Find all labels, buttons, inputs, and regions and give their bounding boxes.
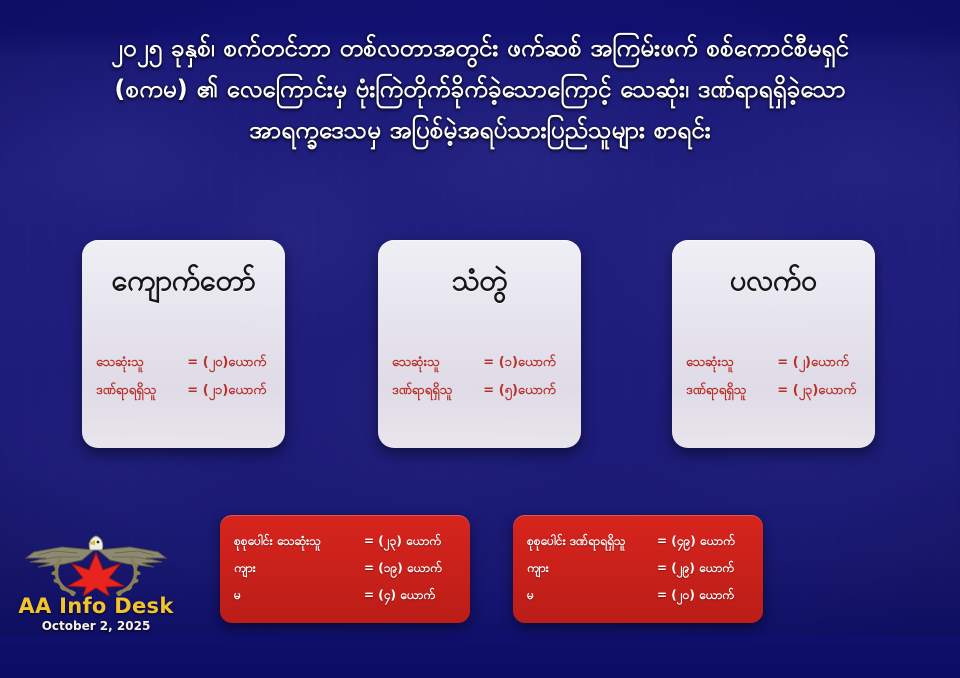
- stat-row-deaths: သေဆုံးသူ = (၂)ယောက်: [686, 349, 861, 377]
- eagle-head-icon: [88, 536, 103, 550]
- aa-info-desk-logo: AA Info Desk October 2, 2025: [16, 534, 176, 646]
- stat-label: သေဆုံးသူ: [96, 349, 187, 377]
- stat-label: သေဆုံးသူ: [686, 349, 777, 377]
- stat-value: = (၂)ယောက်: [777, 349, 861, 377]
- title-line-1: ၂၀၂၅ ခုနှစ်၊ စက်တင်ဘာ တစ်လတာအတွင်း ဖက်ဆစ…: [0, 28, 960, 69]
- infographic-poster: ၂၀၂၅ ခုနှစ်၊ စက်တင်ဘာ တစ်လတာအတွင်း ဖက်ဆစ…: [0, 0, 960, 678]
- poster-title: ၂၀၂၅ ခုနှစ်၊ စက်တင်ဘာ တစ်လတာအတွင်း ဖက်ဆစ…: [0, 28, 960, 151]
- summary-label: စုစုပေါင်း သေဆုံးသူ: [234, 528, 364, 555]
- stat-label: သေဆုံးသူ: [392, 349, 483, 377]
- logo-date: October 2, 2025: [16, 618, 176, 634]
- summary-value: = (၄၉) ယောက်: [657, 528, 735, 555]
- summary-label: စုစုပေါင်း ဒဏ်ရာရရှိသူ: [527, 528, 657, 555]
- logo-name: AA Info Desk: [16, 594, 176, 618]
- summary-label: မ: [527, 582, 657, 609]
- stat-row-injured: ဒဏ်ရာရရှိသူ = (၅)ယောက်: [392, 377, 567, 405]
- summary-value: = (၂၀) ယောက်: [657, 582, 734, 609]
- stat-value: = (၂၃)ယောက်: [777, 377, 861, 405]
- summary-row-total: စုစုပေါင်း သေဆုံးသူ = (၂၃) ယောက်: [234, 528, 456, 555]
- township-cards: ကျောက်တော် သေဆုံးသူ = (၂၀)ယောက် ဒဏ်ရာရရှ…: [0, 240, 960, 450]
- stat-value: = (၅)ယောက်: [483, 377, 567, 405]
- summary-row-male: ကျား = (၁၉) ယောက်: [234, 555, 456, 582]
- township-name: ပလက်ဝ: [730, 262, 817, 305]
- summary-value: = (၁၉) ယောက်: [364, 555, 442, 582]
- summary-value: = (၂၃) ယောက်: [364, 528, 441, 555]
- township-name: သံတွဲ: [452, 262, 508, 305]
- title-line-2: (စကမ) ၏ လေကြောင်းမှ ဗုံးကြဲတိုက်ခိုက်ခဲ့…: [0, 69, 960, 110]
- summary-row-male: ကျား = (၂၉) ယောက်: [527, 555, 749, 582]
- township-card-paletwa: ပလက်ဝ သေဆုံးသူ = (၂)ယောက် ဒဏ်ရာရရှိသူ = …: [672, 240, 875, 448]
- stat-label: ဒဏ်ရာရရှိသူ: [686, 377, 777, 405]
- eagle-star-wreath-icon: [16, 534, 176, 596]
- summary-box-injured: စုစုပေါင်း ဒဏ်ရာရရှိသူ = (၄၉) ယောက် ကျား…: [513, 515, 763, 623]
- logo-emblem: [16, 534, 176, 596]
- summary-label: ကျား: [234, 555, 364, 582]
- summary-value: = (၂၉) ယောက်: [657, 555, 734, 582]
- summary-row-total: စုစုပေါင်း ဒဏ်ရာရရှိသူ = (၄၉) ယောက်: [527, 528, 749, 555]
- township-stats: သေဆုံးသူ = (၂၀)ယောက် ဒဏ်ရာရရှိသူ = (၂၁)ယ…: [82, 349, 285, 405]
- township-stats: သေဆုံးသူ = (၁)ယောက် ဒဏ်ရာရရှိသူ = (၅)ယော…: [378, 349, 581, 405]
- township-card-thandwe: သံတွဲ သေဆုံးသူ = (၁)ယောက် ဒဏ်ရာရရှိသူ = …: [378, 240, 581, 448]
- summary-row-female: မ = (၂၀) ယောက်: [527, 582, 749, 609]
- stat-row-deaths: သေဆုံးသူ = (၁)ယောက်: [392, 349, 567, 377]
- stat-value: = (၂၀)ယောက်: [187, 349, 271, 377]
- stat-value: = (၁)ယောက်: [483, 349, 567, 377]
- summary-label: ကျား: [527, 555, 657, 582]
- stat-value: = (၂၁)ယောက်: [187, 377, 271, 405]
- township-card-kyauktaw: ကျောက်တော် သေဆုံးသူ = (၂၀)ယောက် ဒဏ်ရာရရှ…: [82, 240, 285, 448]
- stat-label: ဒဏ်ရာရရှိသူ: [96, 377, 187, 405]
- summary-label: မ: [234, 582, 364, 609]
- township-name: ကျောက်တော်: [111, 262, 255, 305]
- summary-value: = (၄) ယောက်: [364, 582, 435, 609]
- township-stats: သေဆုံးသူ = (၂)ယောက် ဒဏ်ရာရရှိသူ = (၂၃)ယေ…: [672, 349, 875, 405]
- stat-row-injured: ဒဏ်ရာရရှိသူ = (၂၃)ယောက်: [686, 377, 861, 405]
- stat-row-deaths: သေဆုံးသူ = (၂၀)ယောက်: [96, 349, 271, 377]
- summary-box-deaths: စုစုပေါင်း သေဆုံးသူ = (၂၃) ယောက် ကျား = …: [220, 515, 470, 623]
- stat-row-injured: ဒဏ်ရာရရှိသူ = (၂၁)ယောက်: [96, 377, 271, 405]
- summary-row-female: မ = (၄) ယောက်: [234, 582, 456, 609]
- title-line-3: အာရက္ခဒေသမှ အပြစ်မဲ့အရပ်သားပြည်သူများ စာ…: [0, 110, 960, 151]
- stat-label: ဒဏ်ရာရရှိသူ: [392, 377, 483, 405]
